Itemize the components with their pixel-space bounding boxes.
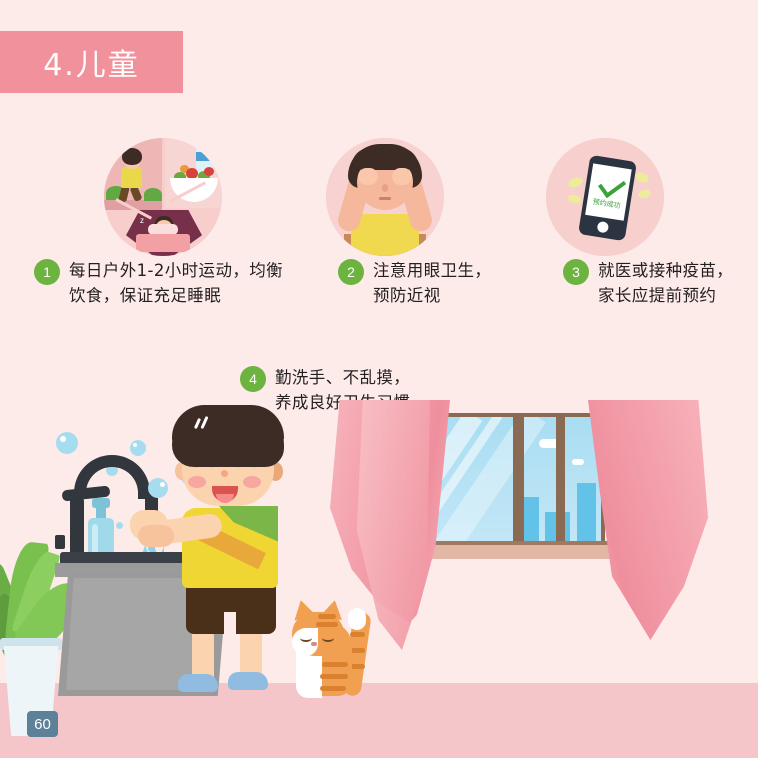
page-title: 4.儿童 bbox=[43, 40, 140, 84]
cat-stripe bbox=[350, 648, 365, 653]
tip-text: 就医或接种疫苗， 家长应提前预约 bbox=[598, 258, 733, 308]
city-building bbox=[577, 483, 596, 545]
tip-number-badge: 3 bbox=[563, 259, 589, 285]
cat-stripe bbox=[322, 662, 348, 667]
window-sill bbox=[415, 545, 615, 559]
soap-bubble-icon bbox=[116, 522, 123, 529]
appointment-success-label: 预约成功 bbox=[588, 196, 624, 211]
salad-item bbox=[204, 167, 214, 176]
boy-eye bbox=[196, 462, 213, 474]
exercise-diet-sleep-icon: z bbox=[104, 138, 222, 256]
running-boy-body bbox=[121, 167, 142, 188]
tip-item-3: 3 就医或接种疫苗， 家长应提前预约 bbox=[563, 258, 753, 308]
handwashing-scene bbox=[0, 400, 758, 758]
faucet-base bbox=[70, 498, 84, 560]
cat-eye bbox=[322, 634, 334, 642]
tip-number-badge: 2 bbox=[338, 259, 364, 285]
curtain-right bbox=[588, 400, 708, 645]
window-mullion bbox=[513, 413, 524, 545]
cat-stripe bbox=[316, 622, 338, 627]
tip-number-badge: 1 bbox=[34, 259, 60, 285]
child-mouth bbox=[379, 197, 391, 200]
cat-tail-tip bbox=[348, 608, 366, 630]
checkmark-icon bbox=[598, 172, 626, 198]
cloud-icon bbox=[572, 459, 584, 465]
cat-stripe bbox=[350, 664, 365, 669]
home-button-icon bbox=[597, 221, 610, 234]
sleep-zzz-icon: z bbox=[140, 216, 144, 225]
boy-shoe bbox=[178, 674, 218, 692]
appointment-phone-icon: 预约成功 bbox=[546, 138, 664, 256]
cat-stripe bbox=[320, 686, 346, 691]
water-bottle-label bbox=[196, 152, 213, 161]
boy-shoe bbox=[228, 672, 268, 690]
window-mullion bbox=[556, 413, 565, 545]
cat-eye bbox=[300, 634, 312, 642]
soap-bubble-icon bbox=[148, 478, 168, 498]
shorts-gap bbox=[224, 612, 236, 636]
phone-screen: 预约成功 bbox=[585, 163, 632, 220]
cat-stripe bbox=[318, 614, 336, 619]
boy-hand bbox=[138, 525, 174, 547]
tip-text: 注意用眼卫生， 预防近视 bbox=[373, 258, 491, 308]
page-number-badge: 60 bbox=[27, 711, 58, 737]
faucet-knob[interactable] bbox=[55, 535, 65, 549]
boy-cheek bbox=[243, 476, 261, 488]
child-hand bbox=[392, 168, 412, 185]
running-boy-hair bbox=[122, 148, 142, 165]
segment-divider bbox=[162, 138, 165, 210]
cat-nose bbox=[311, 642, 317, 646]
child-hair-front bbox=[352, 148, 418, 170]
bed-icon bbox=[136, 234, 190, 252]
cat-stripe bbox=[320, 674, 348, 679]
eye-rubbing-child-icon bbox=[326, 138, 444, 256]
tip-text: 每日户外1-2小时运动，均衡 饮食，保证充足睡眠 bbox=[69, 258, 283, 308]
section-title-banner: 4.儿童 bbox=[0, 31, 183, 93]
tip-item-2: 2 注意用眼卫生， 预防近视 bbox=[338, 258, 533, 308]
boy-eye bbox=[238, 462, 255, 474]
cat-stripe bbox=[350, 632, 365, 637]
soap-bubble-icon bbox=[56, 432, 78, 454]
boy-hair-front bbox=[172, 405, 284, 449]
child-hand bbox=[358, 168, 378, 185]
infographic-page: 4.儿童 z bbox=[0, 0, 758, 758]
tip-item-1: 1 每日户外1-2小时运动，均衡 饮食，保证充足睡眠 bbox=[34, 258, 334, 308]
child-nose bbox=[382, 184, 388, 192]
soap-bubble-icon bbox=[130, 440, 146, 456]
boy-nose bbox=[221, 470, 228, 477]
boy-cheek bbox=[188, 476, 206, 488]
bush-icon bbox=[144, 188, 162, 201]
tip-number-badge: 4 bbox=[240, 366, 266, 392]
